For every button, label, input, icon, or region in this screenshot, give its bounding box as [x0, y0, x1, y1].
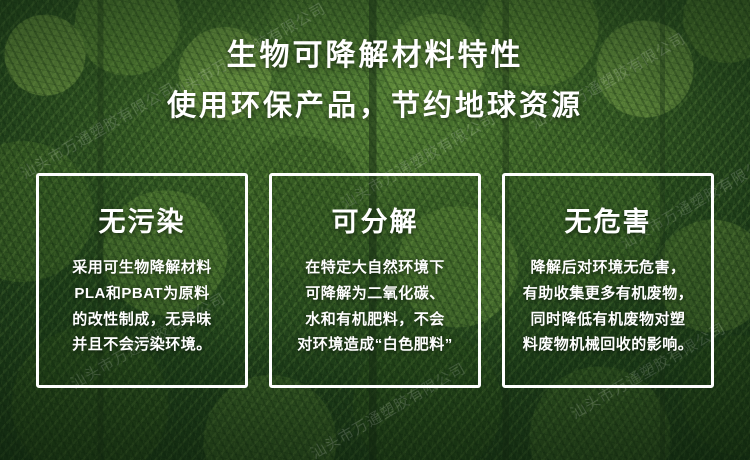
card-title: 无污染: [49, 200, 235, 239]
card-body-line: 同时降低有机废物对塑: [515, 307, 701, 333]
heading-block: 生物可降解材料特性 使用环保产品，节约地球资源: [0, 36, 750, 126]
card-body-line: 有助收集更多有机废物，: [515, 281, 701, 307]
card-body-line: 对环境造成“白色肥料”: [282, 332, 468, 358]
card-title: 无危害: [515, 200, 701, 239]
card-body-line: PLA和PBAT为原料: [49, 281, 235, 307]
page-subtitle: 使用环保产品，节约地球资源: [0, 87, 750, 126]
feature-card-list: 无污染 采用可生物降解材料 PLA和PBAT为原料 的改性制成，无异味 并且不会…: [36, 173, 714, 388]
card-title: 可分解: [282, 200, 468, 239]
card-body: 采用可生物降解材料 PLA和PBAT为原料 的改性制成，无异味 并且不会污染环境…: [49, 255, 235, 358]
poster-image: 汕头市万通塑胶有限公司 汕头市万通塑胶有限公司 汕头市万通塑胶有限公司 汕头市万…: [0, 0, 750, 460]
card-body-line: 在特定大自然环境下: [282, 255, 468, 281]
feature-card-decomposable: 可分解 在特定大自然环境下 可降解为二氧化碳、 水和有机肥料，不会 对环境造成“…: [269, 173, 481, 388]
card-body-line: 降解后对环境无危害，: [515, 255, 701, 281]
card-body-line: 的改性制成，无异味: [49, 307, 235, 333]
card-body-line: 并且不会污染环境。: [49, 332, 235, 358]
feature-card-harmless: 无危害 降解后对环境无危害， 有助收集更多有机废物， 同时降低有机废物对塑 料废…: [502, 173, 714, 388]
card-body-line: 水和有机肥料，不会: [282, 307, 468, 333]
card-body: 降解后对环境无危害， 有助收集更多有机废物， 同时降低有机废物对塑 料废物机械回…: [515, 255, 701, 358]
card-body-line: 可降解为二氧化碳、: [282, 281, 468, 307]
feature-card-no-pollution: 无污染 采用可生物降解材料 PLA和PBAT为原料 的改性制成，无异味 并且不会…: [36, 173, 248, 388]
card-body-line: 采用可生物降解材料: [49, 255, 235, 281]
card-body-line: 料废物机械回收的影响。: [515, 332, 701, 358]
card-body: 在特定大自然环境下 可降解为二氧化碳、 水和有机肥料，不会 对环境造成“白色肥料…: [282, 255, 468, 358]
page-title: 生物可降解材料特性: [0, 36, 750, 77]
